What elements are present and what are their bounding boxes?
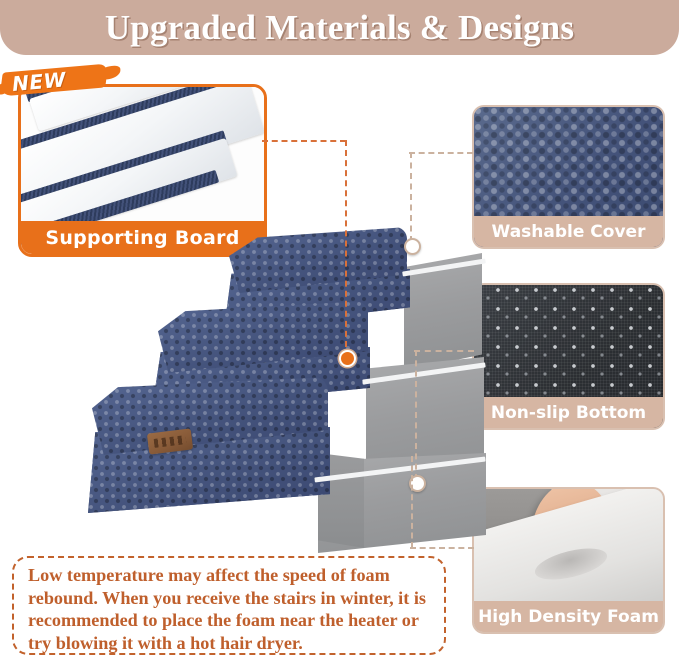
warning-note: Low temperature may affect the speed of … <box>12 556 446 655</box>
connector-line-washable-cover <box>409 152 473 154</box>
connector-dot-washable-cover <box>404 238 421 255</box>
connector-line-non-slip-bottom <box>414 350 474 352</box>
connector-line-supporting-board <box>262 140 346 142</box>
new-badge-label: NEW <box>11 63 105 97</box>
connector-line-high-density-foam <box>411 456 413 548</box>
connector-dot-supporting-board <box>339 350 356 367</box>
connector-line-high-density-foam <box>410 547 474 549</box>
header-banner: Upgraded Materials & Designs <box>0 0 679 55</box>
warning-note-text: Low temperature may affect the speed of … <box>14 558 444 654</box>
infographic-page: Upgraded Materials & Designs Supporting … <box>0 0 679 671</box>
feature-caption-washable-cover: Washable Cover <box>474 216 663 247</box>
feature-caption-non-slip-bottom: Non-slip Bottom <box>474 397 663 428</box>
connector-line-supporting-board <box>345 140 347 357</box>
feature-caption-high-density-foam: High Density Foam <box>474 601 663 632</box>
connector-line-washable-cover <box>410 152 412 242</box>
feature-card-non-slip-bottom[interactable]: Non-slip Bottom <box>472 283 665 430</box>
connector-line-non-slip-bottom <box>415 350 417 480</box>
page-title: Upgraded Materials & Designs <box>0 0 679 55</box>
new-badge: NEW <box>2 62 106 98</box>
brand-mark-icon <box>154 435 187 448</box>
feature-card-washable-cover[interactable]: Washable Cover <box>472 105 665 249</box>
product-photo-pet-stairs <box>96 205 456 550</box>
feature-card-high-density-foam[interactable]: High Density Foam <box>472 487 665 634</box>
